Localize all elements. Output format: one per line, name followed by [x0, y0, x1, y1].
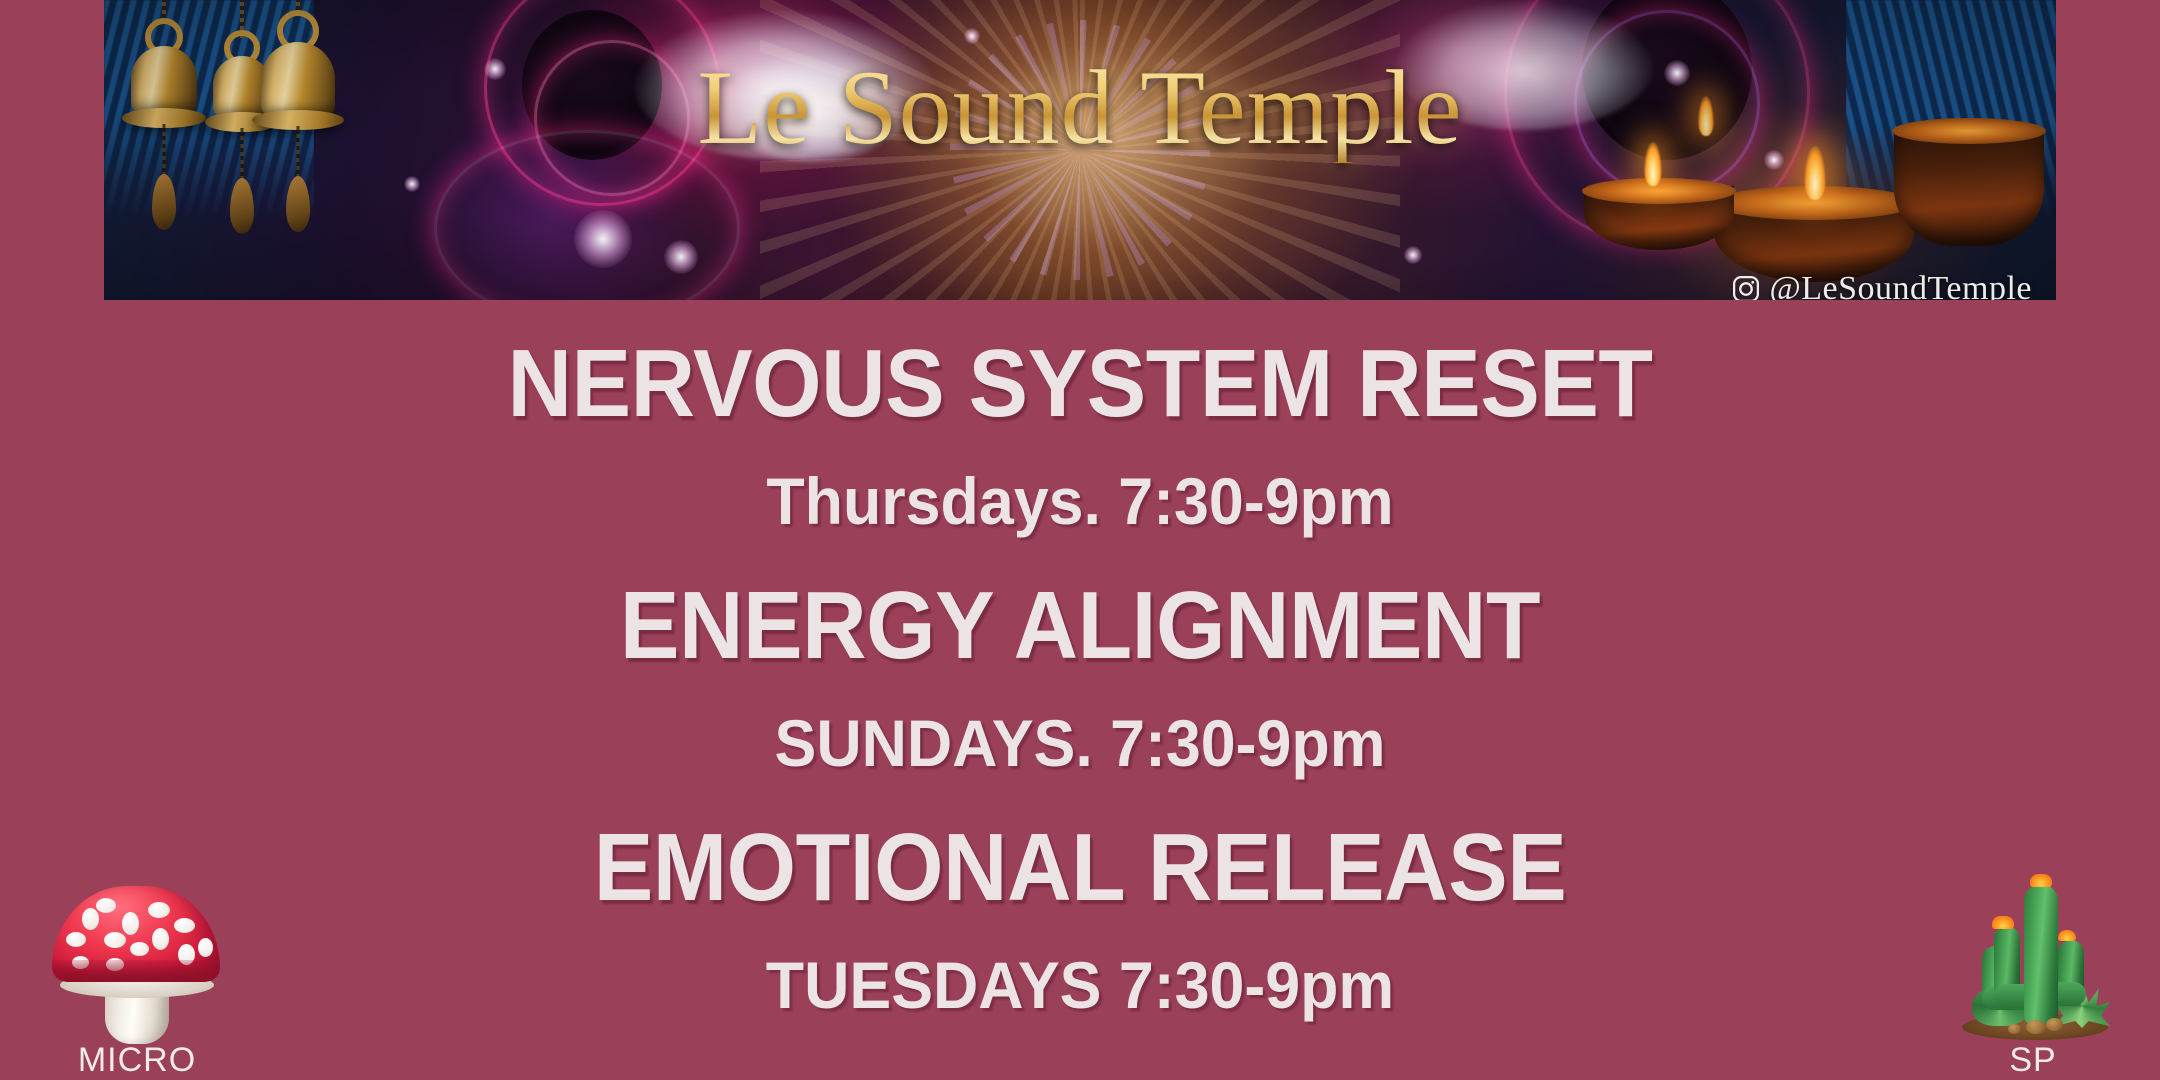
corner-micro: MICRO — [22, 868, 252, 1080]
event-poster: Le Sound Temple @LeSoundTemple NERVOUS S… — [0, 0, 2160, 1080]
session-schedule: TUESDAYS 7:30-9pm — [54, 952, 2106, 1018]
session-title: ENERGY ALIGNMENT — [76, 578, 2085, 674]
instagram-watermark: @LeSoundTemple — [1731, 270, 2032, 300]
cactus-flower-left — [1992, 916, 2014, 929]
session-list: NERVOUS SYSTEM RESET Thursdays. 7:30-9pm… — [0, 300, 2160, 1018]
cactus-flower-right — [2058, 930, 2076, 941]
session-schedule: SUNDAYS. 7:30-9pm — [54, 710, 2106, 776]
instagram-icon — [1731, 274, 1761, 300]
brand-title: Le Sound Temple — [104, 52, 2056, 163]
instagram-handle: @LeSoundTemple — [1769, 270, 2032, 300]
session-title: EMOTIONAL RELEASE — [76, 820, 2085, 916]
cactus-trunk — [2024, 884, 2058, 1024]
session-energy-alignment: ENERGY ALIGNMENT SUNDAYS. 7:30-9pm — [0, 534, 2160, 776]
session-title: NERVOUS SYSTEM RESET — [76, 336, 2085, 432]
corner-label: SP — [1918, 1041, 2148, 1080]
cactus-rock-2 — [2046, 1018, 2063, 1031]
corner-label: MICRO — [22, 1041, 252, 1080]
session-nervous-system-reset: NERVOUS SYSTEM RESET Thursdays. 7:30-9pm — [0, 300, 2160, 534]
session-schedule: Thursdays. 7:30-9pm — [54, 468, 2106, 534]
cactus-rock-3 — [2008, 1024, 2021, 1034]
cactus-rock-1 — [2026, 1020, 2046, 1034]
cactus-icon — [1938, 868, 2128, 1043]
session-emotional-release: EMOTIONAL RELEASE TUESDAYS 7:30-9pm — [0, 776, 2160, 1018]
corner-sp: SP — [1918, 868, 2148, 1080]
mushroom-icon — [42, 868, 232, 1043]
cactus-flower-top — [2030, 874, 2052, 887]
mushroom-cap — [52, 886, 220, 982]
temple-banner-image: Le Sound Temple @LeSoundTemple — [104, 0, 2056, 300]
